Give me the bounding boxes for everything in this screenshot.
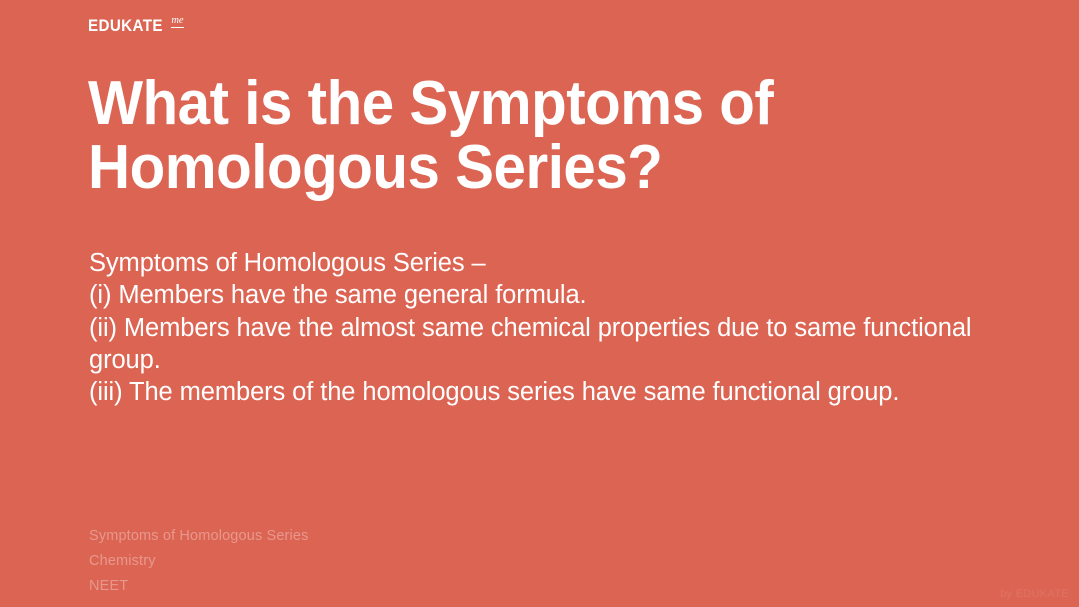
brand-logo[interactable]: EDUKATE me: [88, 16, 184, 36]
slide-canvas: EDUKATE me What is the Symptoms of Homol…: [0, 0, 1079, 607]
body-line-point-2: (ii) Members have the almost same chemic…: [89, 312, 989, 377]
corner-watermark: by EDUKATE: [1000, 587, 1069, 601]
slide-title: What is the Symptoms of Homologous Serie…: [88, 72, 896, 200]
brand-logo-superscript: me: [171, 16, 183, 28]
footer-subject: Chemistry: [89, 549, 609, 574]
slide-body: Symptoms of Homologous Series – (i) Memb…: [89, 247, 989, 408]
footer-topic: Symptoms of Homologous Series: [89, 524, 609, 549]
brand-logo-wordmark: EDUKATE: [88, 16, 163, 36]
body-line-point-1: (i) Members have the same general formul…: [89, 279, 989, 311]
footer-exam: NEET: [89, 574, 609, 599]
slide-footer: Symptoms of Homologous Series Chemistry …: [89, 524, 609, 599]
body-line-intro: Symptoms of Homologous Series –: [89, 247, 989, 279]
body-line-point-3: (iii) The members of the homologous seri…: [89, 376, 989, 408]
